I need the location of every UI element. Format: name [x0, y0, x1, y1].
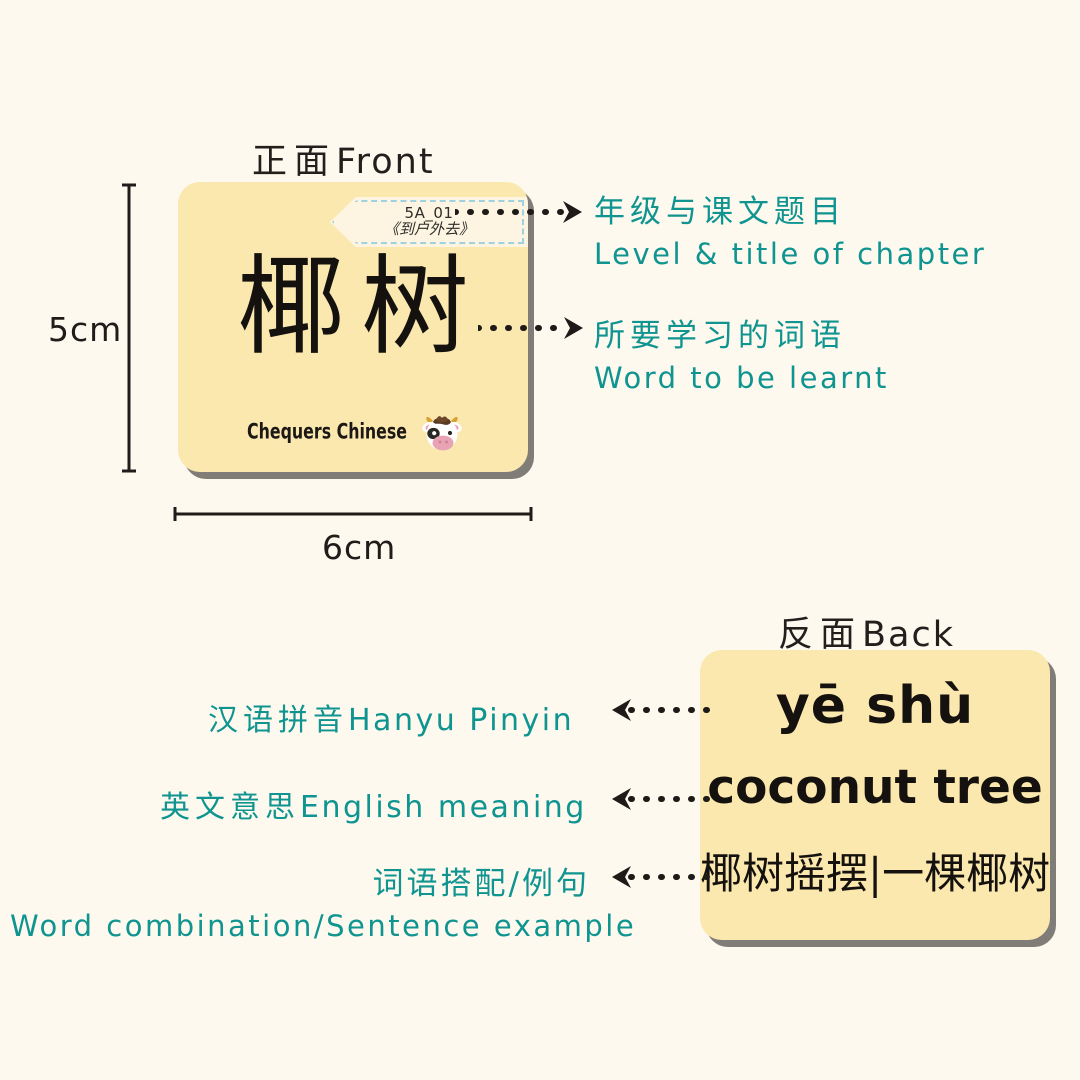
annotation-hanyu-pinyin: 汉语拼音Hanyu Pinyin — [208, 695, 574, 739]
connector-arrow-word-learnt — [478, 312, 598, 344]
back-word-examples: 椰树摇摆|一棵椰树 — [700, 840, 1050, 901]
annotation-english-meaning-en: English meaning — [300, 790, 587, 825]
annotation-level-title-cn: 年级与课文题目 — [594, 186, 986, 231]
brand-row: Chequers Chinese — [178, 410, 528, 454]
connector-arrow-english-meaning — [600, 783, 720, 815]
front-word: 椰树 — [178, 254, 528, 362]
annotation-english-meaning: 英文意思English meaning — [160, 782, 587, 826]
connector-arrow-level-title — [455, 196, 595, 228]
cow-head-icon — [419, 410, 465, 454]
front-heading-en: Front — [336, 142, 435, 182]
flashcard-infographic: 正面Front 5A_01 《到户外去》 椰树 Chequers Chinese — [0, 0, 1080, 1080]
annotation-level-title-en: Level & title of chapter — [594, 237, 986, 271]
dimension-line-width — [172, 503, 534, 525]
back-heading-cn: 反面 — [778, 615, 862, 655]
annotation-word-learnt-cn: 所要学习的词语 — [594, 310, 889, 355]
annotation-word-combination-en: Word combination/Sentence example — [10, 909, 590, 943]
back-flashcard[interactable]: yē shù coconut tree 椰树摇摆|一棵椰树 — [700, 650, 1050, 940]
dimension-label-height: 5cm — [48, 310, 122, 349]
chapter-code: 5A_01 — [405, 206, 454, 222]
brand-name: Chequers Chinese — [247, 420, 407, 445]
connector-arrow-hanyu-pinyin — [600, 694, 720, 726]
annotation-english-meaning-cn: 英文意思 — [160, 790, 300, 825]
back-heading-en: Back — [862, 615, 955, 655]
annotation-word-learnt-en: Word to be learnt — [594, 361, 889, 395]
front-section-heading: 正面Front — [252, 133, 435, 184]
front-heading-cn: 正面 — [252, 142, 336, 182]
annotation-level-title: 年级与课文题目 Level & title of chapter — [594, 186, 986, 271]
dimension-label-width: 6cm — [322, 528, 396, 567]
annotation-hanyu-pinyin-cn: 汉语拼音 — [208, 703, 348, 738]
annotation-word-combination: 词语搭配/例句 Word combination/Sentence exampl… — [10, 858, 590, 943]
back-pinyin: yē shù — [700, 676, 1050, 736]
back-english-meaning: coconut tree — [700, 760, 1050, 815]
annotation-hanyu-pinyin-en: Hanyu Pinyin — [348, 703, 574, 738]
annotation-word-learnt: 所要学习的词语 Word to be learnt — [594, 310, 889, 395]
annotation-word-combination-cn: 词语搭配/例句 — [10, 858, 590, 903]
connector-arrow-word-combination — [600, 861, 720, 893]
